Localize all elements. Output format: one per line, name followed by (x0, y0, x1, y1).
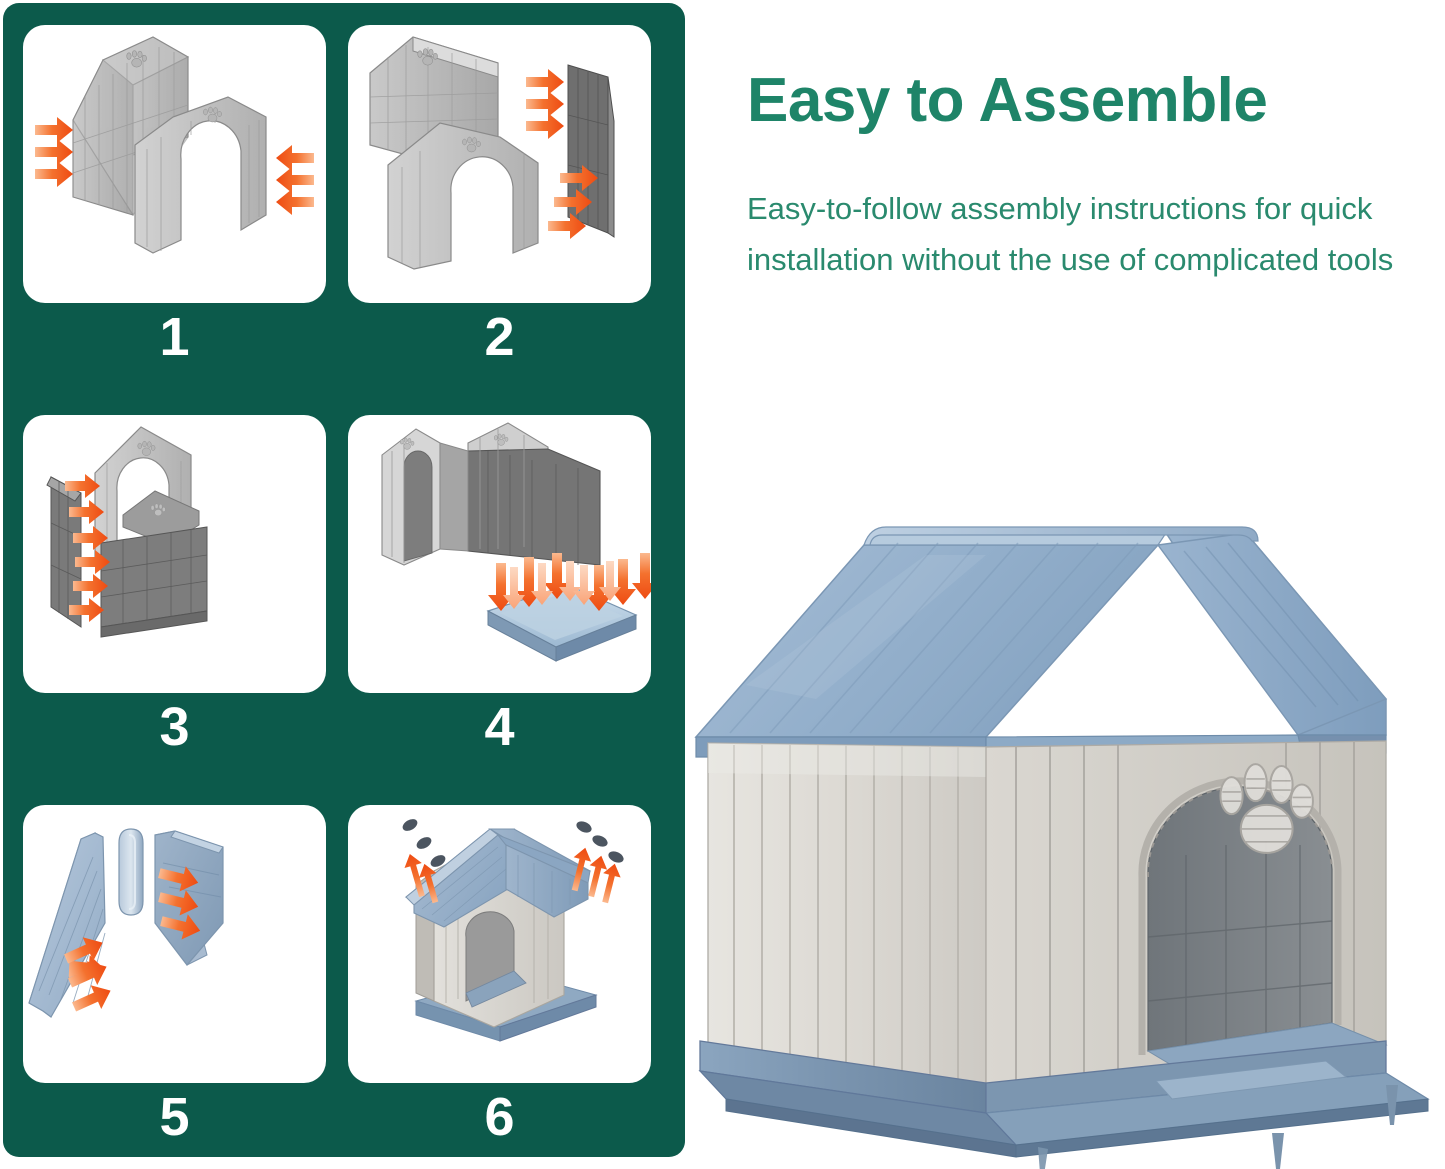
side-wall-panel (568, 65, 614, 237)
assembly-arrows-upper (526, 69, 564, 139)
dog-house-render (686, 485, 1445, 1169)
side-wall-left (708, 743, 986, 1087)
step-2-illustration (348, 25, 651, 303)
step-card-1 (23, 25, 326, 303)
ridge-cap (119, 829, 143, 915)
page-title: Easy to Assemble (747, 66, 1407, 136)
step-number-4: 4 (348, 698, 651, 756)
side-wall-panel (47, 477, 81, 627)
step-4-illustration (348, 415, 651, 693)
front-wall (986, 741, 1386, 1087)
step-number-2: 2 (348, 308, 651, 366)
step-card-4 (348, 415, 651, 693)
step-3-illustration (23, 415, 326, 693)
assembly-arrows-lower (548, 165, 598, 239)
assembly-arrows-right (276, 145, 314, 215)
assembly-arrows-left (35, 117, 73, 187)
step-number-6: 6 (348, 1088, 651, 1146)
page-subtitle: Easy-to-follow assembly instructions for… (747, 183, 1417, 285)
assembled-body (382, 423, 600, 565)
step-number-5: 5 (23, 1088, 326, 1146)
step-1-illustration (23, 25, 326, 303)
hero-product-image (686, 485, 1445, 1169)
assembly-steps-panel: 1 (3, 3, 685, 1157)
step-card-2 (348, 25, 651, 303)
step-card-6 (348, 805, 651, 1083)
step-card-5 (23, 805, 326, 1083)
step-6-illustration (348, 805, 651, 1083)
step-card-3 (23, 415, 326, 693)
step-number-1: 1 (23, 308, 326, 366)
step-number-3: 3 (23, 698, 326, 756)
step-5-illustration (23, 805, 326, 1083)
roof (696, 527, 1386, 757)
